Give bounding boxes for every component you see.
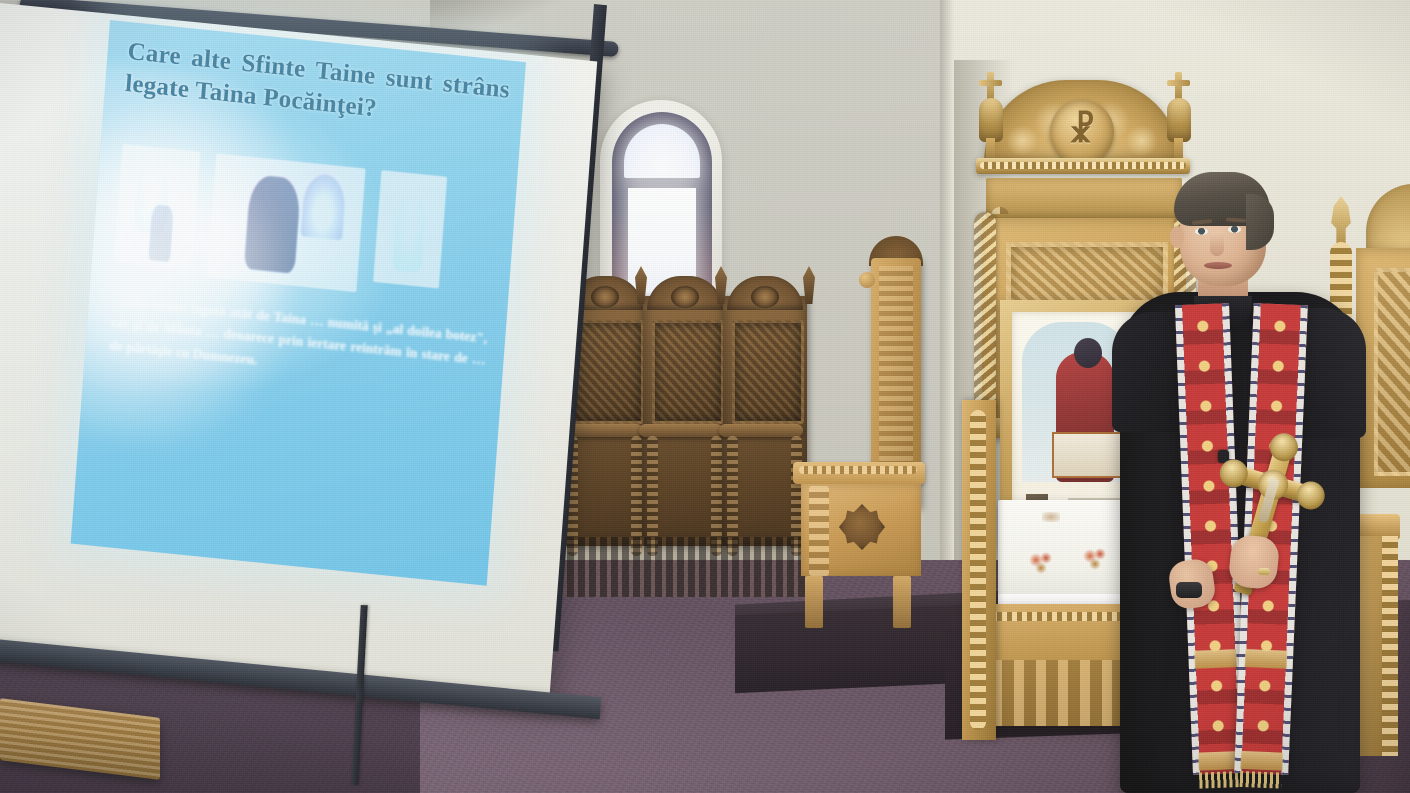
cross-icon	[987, 72, 994, 100]
throne-column-left	[974, 212, 996, 422]
stall-2	[643, 296, 727, 546]
priest-hair-side	[1246, 194, 1274, 250]
throne-right-carved-panel	[1374, 268, 1410, 476]
baptism-photo	[114, 144, 200, 270]
stole-fringe	[1199, 771, 1242, 789]
priest-nose	[1210, 234, 1224, 256]
communion-photo	[373, 170, 447, 288]
stole-fringe	[1240, 771, 1283, 789]
confession-photo	[207, 153, 366, 292]
lectern-knob	[859, 272, 875, 288]
cross-icon	[1175, 72, 1182, 100]
projection-screen-assembly: Care alte Sfinte Taine sunt strâns legat…	[0, 0, 610, 742]
priest-ring	[1258, 568, 1270, 575]
lectern-leg	[893, 576, 911, 628]
throne-right-leg-beading	[1382, 536, 1398, 756]
priest-ear	[1170, 226, 1184, 248]
lectern-leg	[805, 576, 823, 628]
icon-figure-head	[1074, 338, 1102, 368]
chi-rho-medallion: ☧	[1050, 100, 1114, 164]
orthodox-priest	[1118, 168, 1370, 793]
chi-rho-icon: ☧	[1069, 115, 1096, 149]
priest-eye-left	[1195, 228, 1208, 235]
stole-gold-band	[1194, 649, 1237, 669]
throne-finial-left	[978, 72, 1004, 164]
lectern-beading	[799, 466, 917, 474]
icon-figure-book	[1052, 432, 1122, 478]
throne-post-beading	[970, 410, 986, 730]
oak-lectern	[793, 258, 933, 628]
cloth-flower	[1028, 552, 1054, 574]
throne-finial-right	[1166, 72, 1192, 164]
presentation-clicker	[1176, 582, 1202, 598]
stall-carved-panel	[652, 320, 724, 424]
priest-eye-right	[1228, 226, 1241, 233]
lectern-column	[809, 486, 829, 576]
stall-crest	[647, 276, 723, 310]
finial-urn	[1167, 98, 1191, 142]
photo-scene: ☧	[0, 0, 1410, 793]
cloth-embroidery-sprig	[1042, 512, 1060, 522]
stole-gold-band	[1245, 649, 1288, 669]
priest-mouth	[1204, 262, 1232, 269]
projected-slide: Care alte Sfinte Taine sunt strâns legat…	[71, 20, 526, 586]
finial-urn	[979, 98, 1003, 142]
cloth-flower	[1082, 548, 1108, 570]
stall-crest	[727, 276, 803, 310]
stole-gold-band	[1240, 751, 1283, 771]
